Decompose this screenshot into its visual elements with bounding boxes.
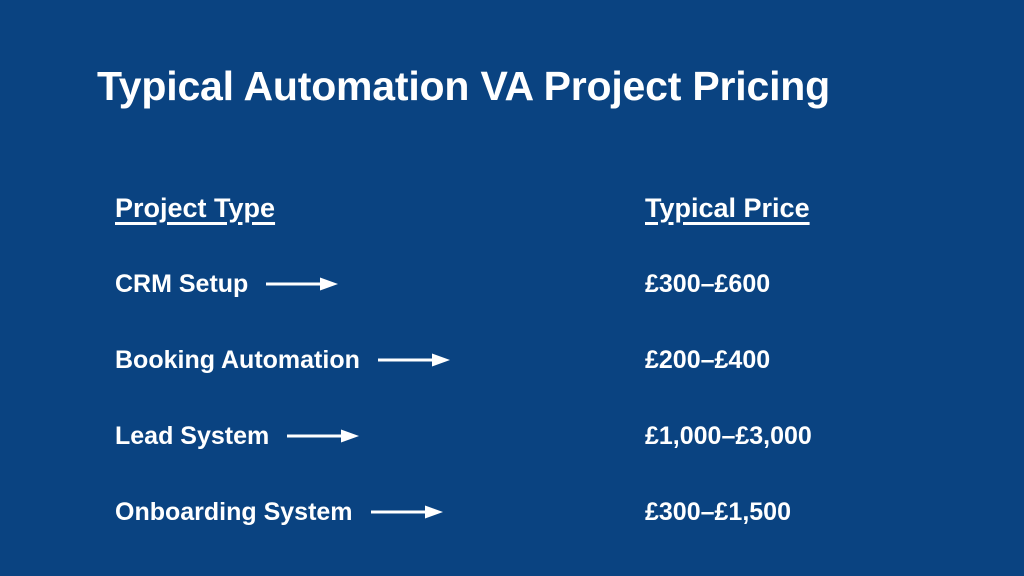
page-title: Typical Automation VA Project Pricing [97, 63, 830, 110]
arrow-right-icon [287, 426, 359, 446]
typical-price-value: £200–£400 [645, 346, 770, 375]
cell-project-type: Booking Automation [115, 338, 450, 382]
header-cell-project-type: Project Type [115, 186, 275, 230]
cell-project-type: Lead System [115, 414, 359, 458]
cell-typical-price: £300–£1,500 [645, 490, 791, 534]
table-row: Lead System £1,000–£3,000 [0, 414, 1024, 490]
typical-price-value: £1,000–£3,000 [645, 422, 812, 451]
typical-price-value: £300–£1,500 [645, 498, 791, 527]
project-type-label: Lead System [115, 422, 269, 451]
typical-price-value: £300–£600 [645, 270, 770, 299]
header-label-project-type: Project Type [115, 193, 275, 224]
arrow-right-icon [378, 350, 450, 370]
slide-canvas: Typical Automation VA Project Pricing Pr… [0, 0, 1024, 576]
table-header-row: Project Type Typical Price [0, 186, 1024, 262]
project-type-label: Booking Automation [115, 346, 360, 375]
project-type-label: Onboarding System [115, 498, 353, 527]
table-row: Onboarding System £300–£1,500 [0, 490, 1024, 566]
pricing-table: Project Type Typical Price CRM Setup £30… [0, 186, 1024, 566]
table-row: CRM Setup £300–£600 [0, 262, 1024, 338]
arrow-right-icon [266, 274, 338, 294]
header-label-typical-price: Typical Price [645, 193, 810, 224]
cell-project-type: Onboarding System [115, 490, 443, 534]
cell-typical-price: £1,000–£3,000 [645, 414, 812, 458]
cell-typical-price: £200–£400 [645, 338, 770, 382]
arrow-right-icon [371, 502, 443, 522]
cell-project-type: CRM Setup [115, 262, 338, 306]
cell-typical-price: £300–£600 [645, 262, 770, 306]
project-type-label: CRM Setup [115, 270, 248, 299]
table-row: Booking Automation £200–£400 [0, 338, 1024, 414]
header-cell-typical-price: Typical Price [645, 186, 810, 230]
